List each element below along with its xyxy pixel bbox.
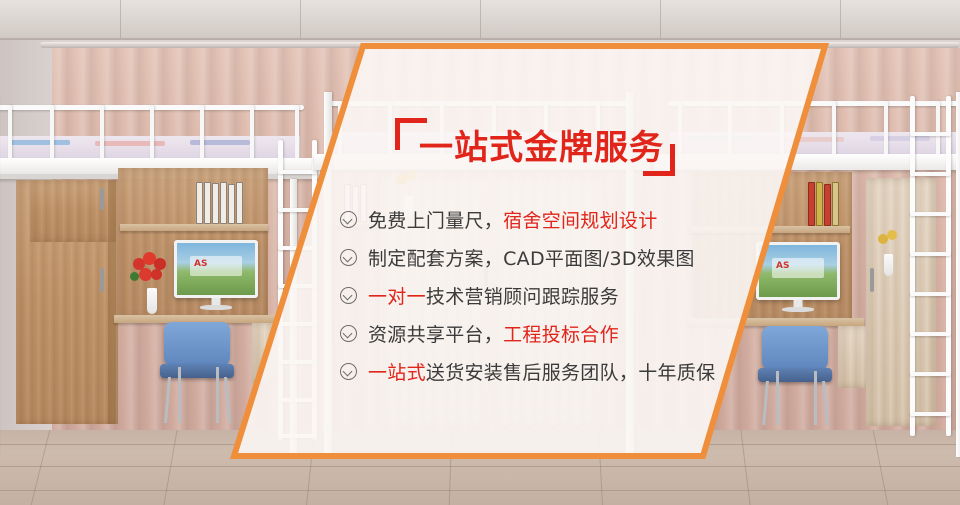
chevron-down-circle-icon [340, 363, 357, 380]
list-item-label: 制定配套方案，CAD平面图/3D效果图 [368, 244, 695, 271]
list-item-label: 资源共享平台，工程投标合作 [368, 320, 619, 347]
plain-text: 资源共享平台， [368, 324, 503, 346]
list-item-label: 一对一技术营销顾问跟踪服务 [368, 282, 619, 309]
highlight-text: 一站式 [368, 362, 426, 384]
highlight-text: 一对一 [368, 286, 426, 308]
service-feature-list: 免费上门量尺，宿舍空间规划设计制定配套方案，CAD平面图/3D效果图一对一技术营… [340, 200, 760, 390]
list-item-label: 一站式送货安装售后服务团队，十年质保 [368, 358, 715, 385]
plain-text: 送货安装售后服务团队，十年质保 [426, 362, 716, 384]
list-item: 资源共享平台，工程投标合作 [340, 314, 760, 352]
banner-stage: AS [0, 0, 960, 505]
chevron-down-circle-icon [340, 249, 357, 266]
page-title: 一站式金牌服务 [419, 124, 664, 172]
list-item: 免费上门量尺，宿舍空间规划设计 [340, 200, 760, 238]
highlight-text: 宿舍空间规划设计 [503, 210, 657, 232]
chevron-down-circle-icon [340, 211, 357, 228]
corner-bracket-bottom-right-icon [643, 144, 675, 176]
plain-text: 技术营销顾问跟踪服务 [426, 286, 619, 308]
chevron-down-circle-icon [340, 287, 357, 304]
plain-text: 免费上门量尺， [368, 210, 503, 232]
plain-text: 制定配套方案，CAD平面图/3D效果图 [368, 248, 695, 270]
title-block: 一站式金牌服务 [395, 118, 675, 180]
list-item: 一对一技术营销顾问跟踪服务 [340, 276, 760, 314]
chevron-down-circle-icon [340, 325, 357, 342]
list-item-label: 免费上门量尺，宿舍空间规划设计 [368, 206, 658, 233]
list-item: 制定配套方案，CAD平面图/3D效果图 [340, 238, 760, 276]
list-item: 一站式送货安装售后服务团队，十年质保 [340, 352, 760, 390]
highlight-text: 工程投标合作 [503, 324, 619, 346]
